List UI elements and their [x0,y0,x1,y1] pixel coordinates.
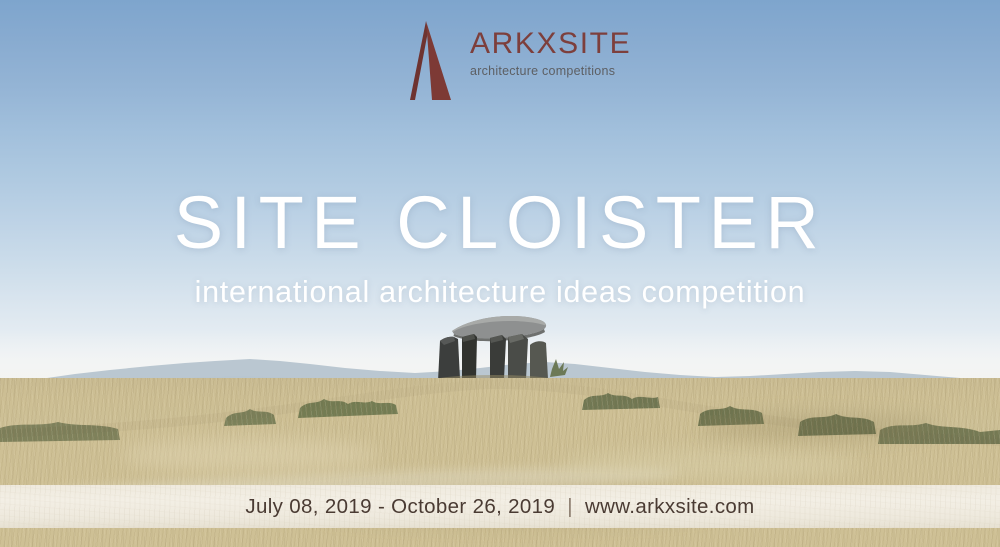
poster-title: SITE CLOISTER [0,186,1000,260]
date-separator: - [378,495,385,518]
logo-tagline: architecture competitions [470,65,631,78]
competition-poster: ARKXSITE architecture competitions SITE … [0,0,1000,547]
start-date: July 08, 2019 [245,495,372,518]
end-date: October 26, 2019 [391,495,555,518]
poster-subtitle: international architecture ideas competi… [0,277,1000,308]
website-link[interactable]: www.arkxsite.com [585,495,755,518]
footer-info: July 08, 2019 - October 26, 2019 | www.a… [245,495,754,519]
footer-divider: | [561,495,579,518]
grass-shadow-2 [700,414,940,440]
logo-brand-name: ARKXSITE [470,29,631,59]
grass-highlight-1 [120,438,380,472]
headline-block: SITE CLOISTER international architecture… [0,186,1000,308]
arkxsite-logo[interactable]: ARKXSITE architecture competitions [396,21,631,100]
arkxsite-a-mark-icon [396,21,458,100]
grass-highlight-2 [560,450,860,480]
logo-text-block: ARKXSITE architecture competitions [470,21,631,78]
footer-band: July 08, 2019 - October 26, 2019 | www.a… [0,485,1000,528]
